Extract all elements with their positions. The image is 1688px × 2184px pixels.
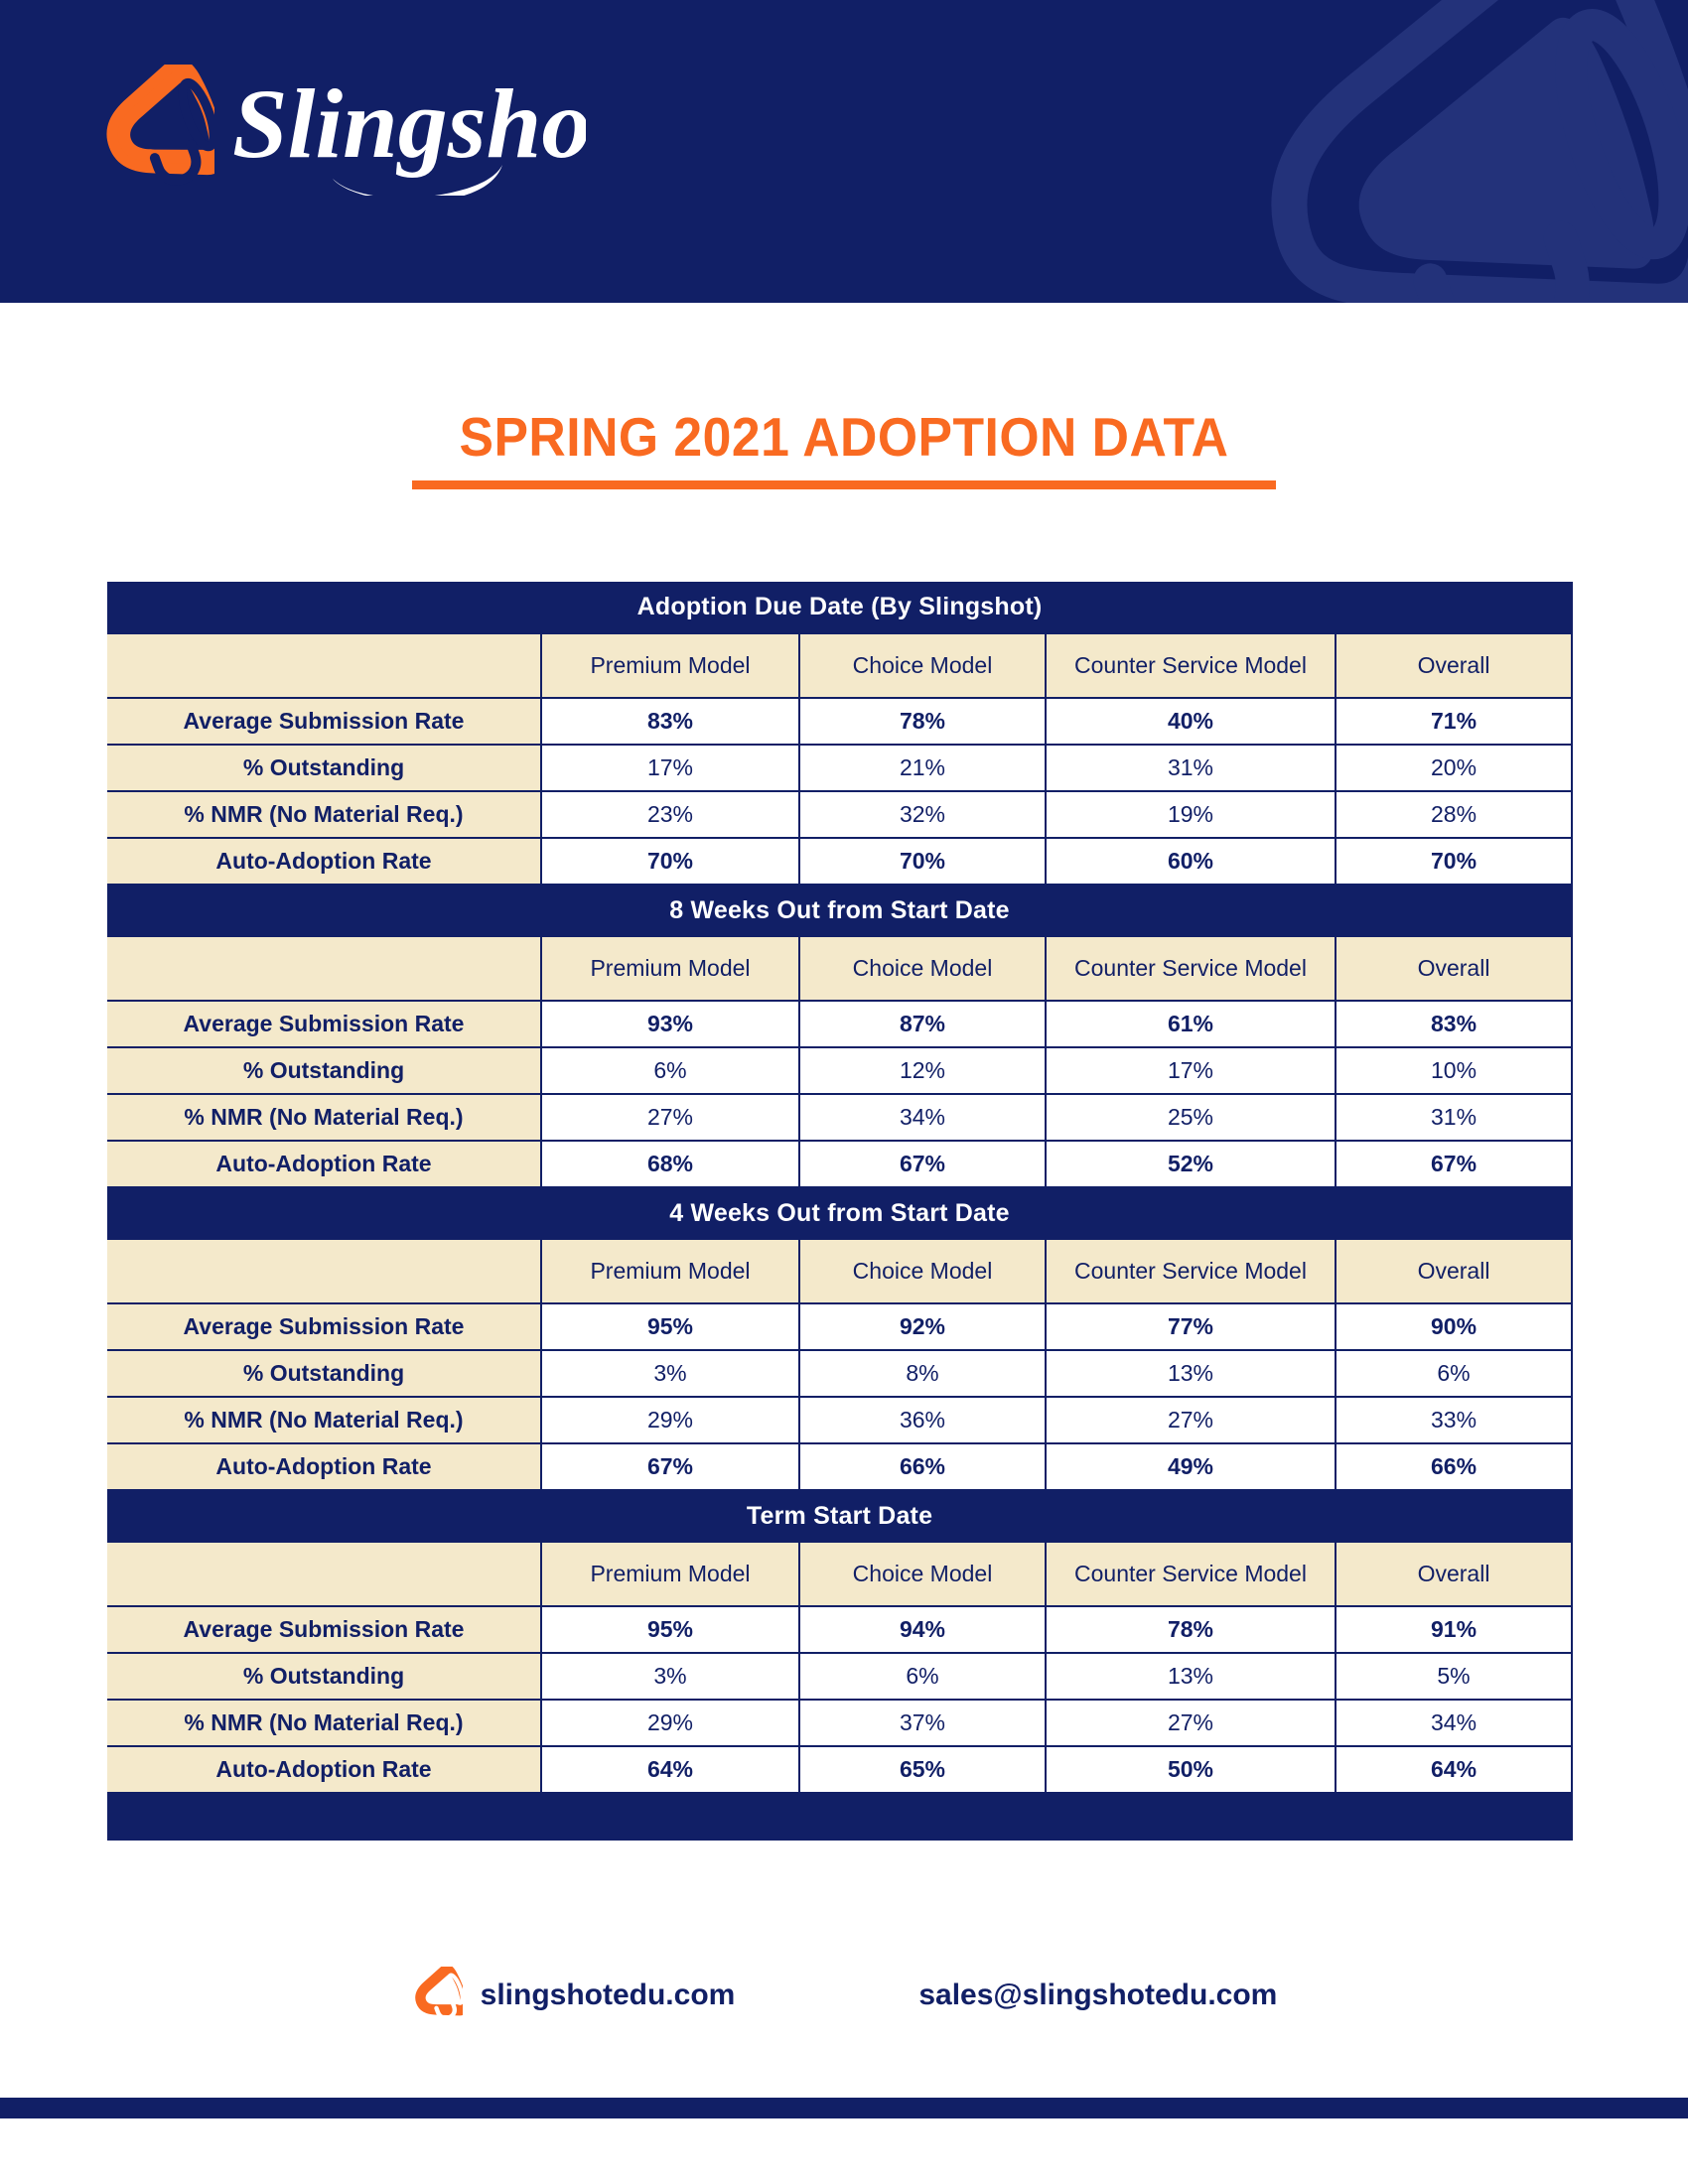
data-cell: 28% [1336,791,1572,838]
column-header-blank [107,936,541,1001]
data-cell: 34% [799,1094,1046,1141]
table-end-bar-cell [107,1793,1572,1841]
column-header: Overall [1336,1239,1572,1303]
data-cell: 64% [1336,1746,1572,1793]
row-label: % NMR (No Material Req.) [107,1397,541,1443]
row-label: Auto-Adoption Rate [107,838,541,885]
data-cell: 52% [1046,1141,1336,1187]
column-header-row: Premium ModelChoice ModelCounter Service… [107,1239,1572,1303]
data-cell: 94% [799,1606,1046,1653]
table-row: % Outstanding17%21%31%20% [107,745,1572,791]
table-end-bar [107,1793,1572,1841]
row-label: % NMR (No Material Req.) [107,791,541,838]
bottom-accent-bar [0,2098,1688,2118]
data-cell: 64% [541,1746,799,1793]
data-cell: 3% [541,1350,799,1397]
column-header: Counter Service Model [1046,633,1336,698]
column-header: Counter Service Model [1046,1239,1336,1303]
row-label: % Outstanding [107,1047,541,1094]
data-cell: 13% [1046,1350,1336,1397]
data-cell: 19% [1046,791,1336,838]
data-cell: 70% [1336,838,1572,885]
row-label: Auto-Adoption Rate [107,1746,541,1793]
data-cell: 78% [799,698,1046,745]
data-cell: 6% [799,1653,1046,1700]
slingshot-wordmark: Slingshot [228,62,586,196]
row-label: % NMR (No Material Req.) [107,1094,541,1141]
table-row: % NMR (No Material Req.)29%37%27%34% [107,1700,1572,1746]
data-cell: 92% [799,1303,1046,1350]
title-underline-rule [412,480,1276,489]
column-header: Counter Service Model [1046,936,1336,1001]
data-cell: 20% [1336,745,1572,791]
section-title-row: Adoption Due Date (By Slingshot) [107,582,1572,633]
data-cell: 77% [1046,1303,1336,1350]
data-cell: 8% [799,1350,1046,1397]
data-cell: 87% [799,1001,1046,1047]
table-row: % Outstanding6%12%17%10% [107,1047,1572,1094]
section-title: 4 Weeks Out from Start Date [107,1187,1572,1239]
brand-logo-lockup: Slingshot [97,62,586,196]
table-row: Auto-Adoption Rate70%70%60%70% [107,838,1572,885]
data-cell: 61% [1046,1001,1336,1047]
data-cell: 67% [541,1443,799,1490]
footer-email-label: sales@slingshotedu.com [918,1979,1277,2012]
megaphone-icon [411,1967,463,2024]
row-label: % Outstanding [107,1653,541,1700]
column-header: Overall [1336,1542,1572,1606]
column-header-row: Premium ModelChoice ModelCounter Service… [107,936,1572,1001]
section-title-row: Term Start Date [107,1490,1572,1542]
data-cell: 25% [1046,1094,1336,1141]
table-row: Average Submission Rate95%94%78%91% [107,1606,1572,1653]
row-label: % NMR (No Material Req.) [107,1700,541,1746]
table-row: Auto-Adoption Rate67%66%49%66% [107,1443,1572,1490]
column-header: Choice Model [799,1542,1046,1606]
table-row: % Outstanding3%6%13%5% [107,1653,1572,1700]
footer-website-label: slingshotedu.com [481,1979,736,2012]
section-title-row: 8 Weeks Out from Start Date [107,885,1572,936]
data-cell: 21% [799,745,1046,791]
data-cell: 67% [799,1141,1046,1187]
data-cell: 34% [1336,1700,1572,1746]
column-header: Overall [1336,633,1572,698]
section-title: Term Start Date [107,1490,1572,1542]
data-cell: 93% [541,1001,799,1047]
megaphone-icon [97,65,214,194]
row-label: Average Submission Rate [107,1606,541,1653]
data-cell: 33% [1336,1397,1572,1443]
data-cell: 31% [1046,745,1336,791]
column-header: Counter Service Model [1046,1542,1336,1606]
data-cell: 31% [1336,1094,1572,1141]
data-cell: 17% [1046,1047,1336,1094]
data-cell: 12% [799,1047,1046,1094]
column-header: Premium Model [541,633,799,698]
page-header: Slingshot [0,0,1688,303]
table-row: Auto-Adoption Rate64%65%50%64% [107,1746,1572,1793]
data-cell: 37% [799,1700,1046,1746]
data-cell: 65% [799,1746,1046,1793]
data-cell: 66% [1336,1443,1572,1490]
column-header: Choice Model [799,633,1046,698]
data-cell: 32% [799,791,1046,838]
table-row: Average Submission Rate95%92%77%90% [107,1303,1572,1350]
data-cell: 70% [541,838,799,885]
data-cell: 27% [541,1094,799,1141]
data-cell: 3% [541,1653,799,1700]
document-page: Slingshot SPRING 2021 ADOPTION DATA Adop… [0,0,1688,2184]
column-header-row: Premium ModelChoice ModelCounter Service… [107,633,1572,698]
megaphone-watermark-icon [1172,0,1688,303]
table-row: % NMR (No Material Req.)29%36%27%33% [107,1397,1572,1443]
data-cell: 90% [1336,1303,1572,1350]
data-cell: 83% [541,698,799,745]
table-row: % NMR (No Material Req.)27%34%25%31% [107,1094,1572,1141]
data-cell: 60% [1046,838,1336,885]
adoption-data-table-wrapper: Adoption Due Date (By Slingshot)Premium … [107,582,1572,1841]
data-cell: 6% [1336,1350,1572,1397]
column-header-row: Premium ModelChoice ModelCounter Service… [107,1542,1572,1606]
row-label: % Outstanding [107,1350,541,1397]
table-row: Auto-Adoption Rate68%67%52%67% [107,1141,1572,1187]
page-title: SPRING 2021 ADOPTION DATA [51,405,1637,469]
adoption-data-table: Adoption Due Date (By Slingshot)Premium … [107,582,1573,1841]
data-cell: 71% [1336,698,1572,745]
column-header-blank [107,633,541,698]
page-footer: slingshotedu.com sales@slingshotedu.com [0,1941,1688,2050]
data-cell: 29% [541,1700,799,1746]
column-header: Overall [1336,936,1572,1001]
table-row: Average Submission Rate83%78%40%71% [107,698,1572,745]
column-header-blank [107,1542,541,1606]
table-row: % NMR (No Material Req.)23%32%19%28% [107,791,1572,838]
data-cell: 13% [1046,1653,1336,1700]
data-cell: 66% [799,1443,1046,1490]
row-label: Auto-Adoption Rate [107,1141,541,1187]
column-header: Premium Model [541,1239,799,1303]
data-cell: 95% [541,1606,799,1653]
row-label: Average Submission Rate [107,1303,541,1350]
row-label: Auto-Adoption Rate [107,1443,541,1490]
data-cell: 95% [541,1303,799,1350]
data-cell: 36% [799,1397,1046,1443]
column-header-blank [107,1239,541,1303]
footer-website[interactable]: slingshotedu.com [411,1967,736,2024]
data-cell: 49% [1046,1443,1336,1490]
row-label: Average Submission Rate [107,698,541,745]
data-cell: 83% [1336,1001,1572,1047]
column-header: Choice Model [799,936,1046,1001]
data-cell: 10% [1336,1047,1572,1094]
row-label: % Outstanding [107,745,541,791]
data-cell: 68% [541,1141,799,1187]
footer-email[interactable]: sales@slingshotedu.com [918,1979,1277,2012]
data-cell: 78% [1046,1606,1336,1653]
data-cell: 5% [1336,1653,1572,1700]
data-cell: 91% [1336,1606,1572,1653]
data-cell: 40% [1046,698,1336,745]
row-label: Average Submission Rate [107,1001,541,1047]
svg-text:Slingshot: Slingshot [232,68,586,179]
data-cell: 23% [541,791,799,838]
column-header: Premium Model [541,1542,799,1606]
column-header: Choice Model [799,1239,1046,1303]
table-row: % Outstanding3%8%13%6% [107,1350,1572,1397]
data-cell: 67% [1336,1141,1572,1187]
table-row: Average Submission Rate93%87%61%83% [107,1001,1572,1047]
section-title: 8 Weeks Out from Start Date [107,885,1572,936]
data-cell: 50% [1046,1746,1336,1793]
data-cell: 27% [1046,1700,1336,1746]
data-cell: 29% [541,1397,799,1443]
column-header: Premium Model [541,936,799,1001]
section-title-row: 4 Weeks Out from Start Date [107,1187,1572,1239]
data-cell: 6% [541,1047,799,1094]
data-cell: 17% [541,745,799,791]
section-title: Adoption Due Date (By Slingshot) [107,582,1572,633]
data-cell: 27% [1046,1397,1336,1443]
data-cell: 70% [799,838,1046,885]
